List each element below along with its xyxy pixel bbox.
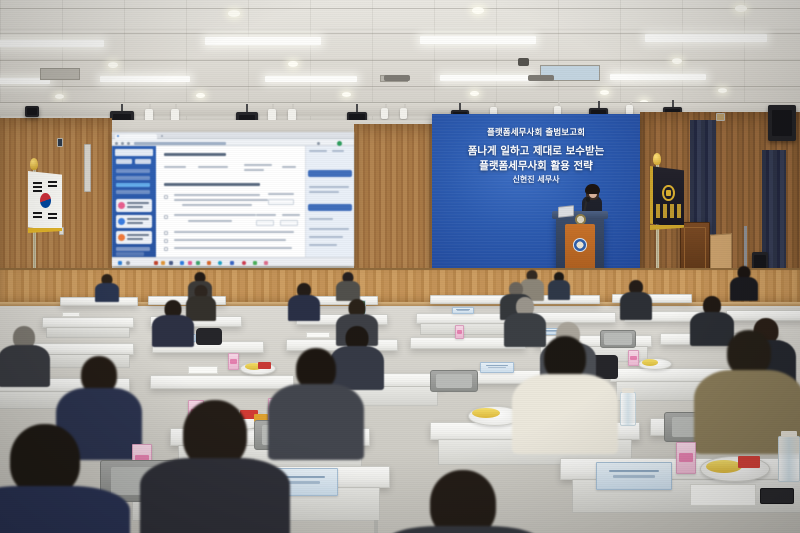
- pane-action-button[interactable]: [308, 204, 352, 211]
- browser-tab[interactable]: [115, 134, 157, 139]
- handout-paper: [188, 366, 218, 374]
- banana: [472, 408, 500, 418]
- form-body-text: [174, 239, 286, 241]
- handout-paper: [306, 332, 330, 338]
- ceiling-panel-light: [100, 76, 190, 82]
- address-bar-url-text: [134, 142, 226, 145]
- trigram: [48, 213, 57, 215]
- ceiling-panel-light: [0, 40, 104, 47]
- sidebar-menu-item[interactable]: [116, 176, 150, 180]
- search-icon[interactable]: [126, 261, 130, 265]
- app-icon[interactable]: [188, 261, 192, 265]
- banana: [642, 359, 658, 366]
- ceiling-panel-light: [265, 76, 357, 82]
- audience-member: [336, 272, 360, 300]
- pane-header-text: [332, 150, 344, 152]
- app-icon[interactable]: [218, 261, 222, 265]
- ceiling-downlight: [735, 5, 747, 12]
- form-input[interactable]: [268, 199, 294, 205]
- torso: [140, 458, 290, 533]
- browser-favicon-icon: [117, 135, 119, 137]
- form-label: [268, 193, 294, 195]
- podium-laptop: [558, 205, 574, 218]
- form-body-text: [174, 247, 292, 249]
- form-checkbox[interactable]: [164, 231, 168, 235]
- taeguk-circle: [40, 193, 51, 209]
- form-body-text: [174, 214, 256, 216]
- form-label: [164, 166, 186, 168]
- org-flag-finial: [653, 153, 661, 165]
- pane-action-button[interactable]: [308, 170, 352, 177]
- torso: [512, 374, 618, 454]
- head: [430, 470, 496, 533]
- wall-panel: [84, 144, 91, 192]
- app-icon[interactable]: [253, 261, 257, 265]
- ceiling-air-vent: [40, 68, 80, 80]
- form-body-text: [182, 204, 252, 206]
- presenter-hair: [585, 184, 600, 194]
- audience-member-foreground: [0, 424, 130, 533]
- trigram: [33, 186, 42, 188]
- bottle-cap: [622, 388, 634, 393]
- form-section-heading: [164, 183, 260, 186]
- torso: [95, 283, 119, 302]
- slide-title: 플랫폼세무사회 출범보고회: [432, 126, 640, 138]
- wooden-cabinet: [680, 222, 710, 274]
- wood-wall-center: [354, 124, 434, 270]
- audience-member-foreground: [140, 400, 290, 533]
- sidebar-menu-item[interactable]: [116, 169, 150, 173]
- sidebar-button-primary[interactable]: [116, 159, 132, 164]
- torso: [0, 345, 50, 387]
- form-checkbox[interactable]: [164, 215, 168, 219]
- booklet: [596, 462, 672, 490]
- wall-panel: [716, 113, 725, 121]
- snack-bar: [738, 456, 760, 468]
- seminar-room-photo: 플랫폼세무사회 출범보고회 폼나게 일하고 제대로 보수받는 플랫폼세무사회 활…: [0, 0, 800, 533]
- bottle-cap: [781, 431, 797, 437]
- ceiling-downlight: [600, 90, 609, 95]
- form-checkbox[interactable]: [164, 247, 168, 251]
- form-label: [198, 166, 228, 168]
- sidebar-menu-item[interactable]: [116, 190, 150, 194]
- form-label: [244, 169, 264, 171]
- app-icon[interactable]: [161, 261, 165, 265]
- chair-backrest: [436, 374, 473, 388]
- ceiling-downlight: [108, 62, 118, 68]
- app-icon[interactable]: [180, 261, 184, 265]
- form-checkbox[interactable]: [164, 195, 168, 199]
- audience-member-foreground: [388, 470, 538, 533]
- form-input[interactable]: [256, 220, 274, 226]
- handout-paper: [690, 484, 756, 506]
- app-icon[interactable]: [169, 261, 173, 265]
- water-bottle: [778, 436, 800, 482]
- banana: [706, 460, 742, 473]
- torso: [0, 486, 130, 533]
- drink-carton: [676, 442, 696, 474]
- slide-line-2: 플랫폼세무사회 활용 전략: [432, 158, 640, 173]
- drink-carton: [228, 353, 239, 370]
- pane-text: [309, 244, 337, 246]
- desk-modesty-panel: [420, 323, 508, 335]
- backpack: [196, 328, 222, 345]
- app-icon[interactable]: [207, 261, 211, 265]
- track-light: [381, 108, 388, 119]
- wall-speaker: [768, 105, 796, 141]
- drink-carton: [628, 350, 639, 366]
- ceiling-panel-light: [440, 75, 534, 81]
- chair: [430, 370, 478, 392]
- pane-text: [309, 186, 349, 188]
- form-label: [256, 214, 276, 216]
- org-emblem-icon: [662, 185, 674, 201]
- form-body-text: [174, 231, 294, 233]
- back-arrow-icon[interactable]: [115, 142, 118, 145]
- audience-member: [620, 280, 652, 318]
- form-body-text: [188, 220, 232, 222]
- windows-taskbar: [112, 257, 354, 266]
- ceiling-downlight: [672, 58, 682, 64]
- ceiling-downlight: [228, 10, 240, 17]
- pane-text: [309, 218, 333, 220]
- torso: [336, 281, 360, 301]
- cabinet-door-panel: [684, 227, 706, 269]
- pane-text: [309, 236, 343, 238]
- audience-member: [512, 336, 618, 448]
- ceiling-downlight: [55, 94, 64, 99]
- app-icon[interactable]: [196, 261, 200, 265]
- app-icon[interactable]: [230, 261, 234, 265]
- trigram: [48, 217, 57, 219]
- profile-avatar-icon[interactable]: [337, 141, 342, 146]
- org-flag-lettering: [656, 204, 681, 218]
- desk-leg: [374, 520, 378, 533]
- torso: [548, 280, 570, 300]
- pane-text: [309, 228, 349, 230]
- trigram: [33, 182, 42, 184]
- drink-carton: [455, 325, 464, 339]
- form-label: [282, 214, 300, 216]
- booklet: [480, 362, 514, 373]
- pane-text: [309, 191, 339, 193]
- booklet: [452, 307, 474, 314]
- new-tab-icon[interactable]: [161, 135, 163, 137]
- ceiling-grille: [528, 75, 554, 81]
- audience-member: [548, 272, 570, 300]
- ceiling-downlight: [196, 93, 205, 98]
- audience-member: [288, 283, 320, 319]
- pane-header-text: [309, 150, 327, 152]
- form-checkbox[interactable]: [164, 239, 168, 243]
- form-label: [244, 164, 272, 166]
- form-document-pane: [156, 146, 306, 258]
- audience-member: [730, 266, 758, 300]
- reload-icon[interactable]: [127, 142, 130, 145]
- slide-presenter-name: 신현진 세무사: [432, 174, 640, 185]
- app-logo: [115, 149, 153, 156]
- right-projection-screen: 플랫폼세무사회 출범보고회 폼나게 일하고 제대로 보수받는 플랫폼세무사회 활…: [432, 114, 640, 269]
- ceiling-downlight: [718, 88, 727, 93]
- trigram: [33, 216, 42, 218]
- korean-national-flag: [28, 171, 62, 231]
- track-light: [400, 108, 407, 119]
- audience-member: [152, 300, 194, 344]
- water-bottle: [620, 392, 636, 426]
- form-label: [282, 166, 296, 168]
- torso: [288, 295, 320, 321]
- torso: [730, 277, 758, 301]
- ceiling-panel-light: [645, 34, 767, 42]
- ceiling-downlight: [470, 91, 479, 96]
- trigram: [33, 190, 42, 192]
- torso: [388, 526, 538, 533]
- sidebar-footer-link[interactable]: [116, 252, 144, 256]
- sidebar-promo-card[interactable]: [116, 199, 152, 212]
- wall-switch: [57, 138, 63, 147]
- sidebar-footer-link[interactable]: [116, 247, 150, 251]
- trigram: [48, 185, 57, 187]
- torso: [152, 315, 194, 347]
- form-body-text: [174, 199, 268, 201]
- sidebar-promo-card[interactable]: [116, 231, 152, 244]
- handout-paper: [62, 312, 80, 317]
- app-icon[interactable]: [154, 261, 158, 265]
- form-input[interactable]: [280, 220, 298, 226]
- audience-member: [95, 274, 119, 300]
- podium-emblem-icon: [573, 238, 587, 252]
- form-section-heading: [164, 153, 226, 156]
- forward-arrow-icon[interactable]: [121, 142, 124, 145]
- microphone-head-icon: [586, 197, 590, 202]
- ceiling-panel-light: [420, 36, 536, 44]
- left-projection-screen: [112, 132, 354, 266]
- organization-flag: [650, 166, 684, 228]
- app-icon[interactable]: [264, 261, 268, 265]
- sidebar-promo-card[interactable]: [116, 215, 152, 228]
- mobile-phone[interactable]: [760, 488, 794, 504]
- browser-menu-icon[interactable]: [317, 142, 320, 145]
- app-icon[interactable]: [242, 261, 246, 265]
- windows-start-icon[interactable]: [118, 261, 122, 265]
- ceiling-panel-light: [205, 37, 321, 45]
- korean-flag-finial: [30, 158, 38, 170]
- sidebar-menu-item-active[interactable]: [116, 183, 150, 187]
- ceiling-downlight: [288, 61, 298, 67]
- audience-member: [0, 326, 50, 384]
- ceiling-panel-light: [610, 74, 706, 80]
- ceiling-grille: [384, 75, 410, 81]
- trigram: [33, 212, 42, 214]
- side-widget-pane: [306, 146, 354, 258]
- trigram: [48, 181, 57, 183]
- wall-speaker: [25, 106, 39, 117]
- ceiling-projector: [518, 58, 529, 66]
- desk-modesty-panel: [46, 327, 130, 338]
- app-sidebar: [112, 146, 156, 258]
- slide-line-1: 폼나게 일하고 제대로 보수받는: [432, 143, 640, 158]
- form-body-text: [174, 194, 260, 196]
- ceiling-downlight: [472, 7, 484, 14]
- sidebar-button-secondary[interactable]: [135, 159, 151, 164]
- ceiling-downlight: [342, 92, 351, 97]
- desk: [430, 295, 510, 304]
- torso: [620, 292, 652, 320]
